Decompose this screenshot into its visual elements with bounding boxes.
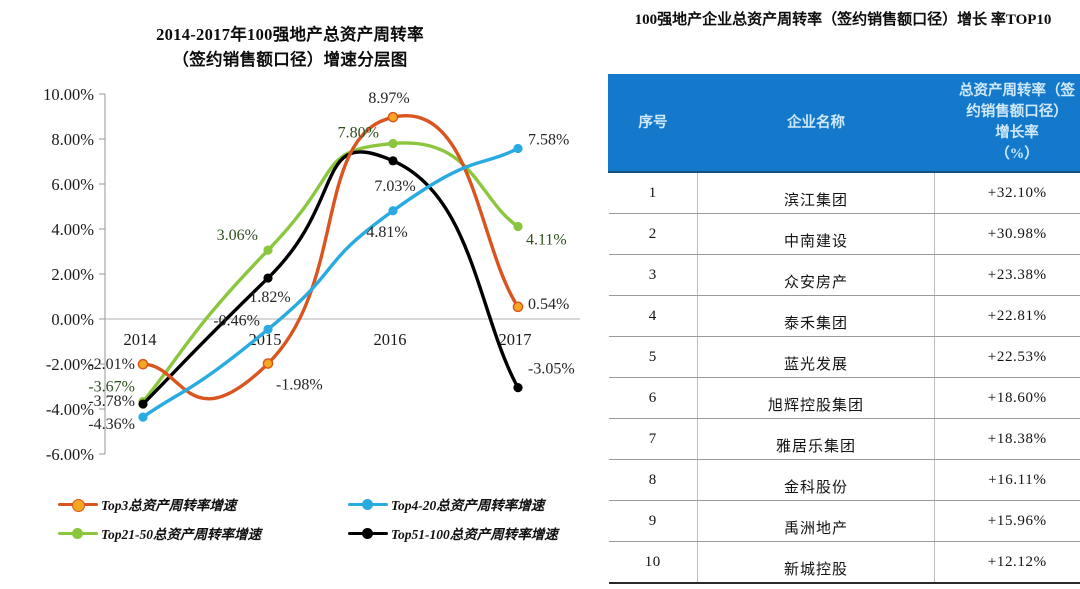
table-title-line-2: 率TOP10 — [991, 12, 1052, 28]
cell-growth-rate: +22.81% — [935, 296, 1080, 337]
cell-company: 滨江集团 — [698, 172, 935, 214]
legend-item-top3[interactable]: Top3总资产周转率增速 — [58, 494, 348, 514]
chart-title-line-1: 2014-2017年100强地产总资产周转率 — [30, 22, 550, 47]
growth-rate-value: +15.96% — [988, 513, 1047, 529]
cell-rank: 9 — [609, 501, 698, 542]
legend-marker-top21-50 — [58, 526, 98, 540]
growth-rate-value: +12.12% — [988, 554, 1047, 570]
cell-rank: 2 — [609, 214, 698, 255]
data-point — [138, 413, 147, 422]
table-title: 100强地产企业总资产周转率（签约销售额口径）增长 率TOP10 — [612, 8, 1074, 33]
cell-company: 中南建设 — [698, 214, 935, 255]
table-header-row: 序号 企业名称 总资产周转率（签 约销售额口径） 增长率 （%） — [609, 75, 1080, 173]
data-series-group — [138, 113, 522, 422]
data-point — [513, 222, 522, 231]
cell-rank: 10 — [609, 542, 698, 584]
table-row[interactable]: 9禹洲地产+15.96% — [609, 501, 1080, 542]
plot-area: 10.00%8.00%6.00%4.00%2.00%0.00%-2.00%-4.… — [0, 72, 600, 482]
column-header-growth-line-3: 增长率 — [939, 123, 1080, 144]
y-tick-label: 8.00% — [51, 130, 94, 149]
cell-company: 新城控股 — [698, 542, 935, 584]
data-label: 8.97% — [368, 90, 409, 107]
cell-company: 泰禾集团 — [698, 296, 935, 337]
company-name: 滨江集团 — [784, 189, 848, 210]
rank-value: 1 — [649, 185, 657, 201]
cell-company: 禹洲地产 — [698, 501, 935, 542]
rank-value: 5 — [649, 349, 657, 365]
y-tick-label: 10.00% — [43, 85, 94, 104]
column-header-growth-rate: 总资产周转率（签 约销售额口径） 增长率 （%） — [935, 75, 1080, 173]
cell-growth-rate: +16.11% — [935, 460, 1080, 501]
chart-panel: 2014-2017年100强地产总资产周转率 （签约销售额口径）增速分层图 10… — [0, 0, 600, 589]
company-name: 旭辉控股集团 — [768, 394, 864, 415]
cell-rank: 8 — [609, 460, 698, 501]
data-label: -1.98% — [276, 377, 323, 394]
data-point — [138, 399, 147, 408]
table-row[interactable]: 10新城控股+12.12% — [609, 542, 1080, 584]
growth-rate-value: +23.38% — [988, 267, 1047, 283]
y-tick-label: -2.00% — [46, 355, 94, 374]
cell-rank: 3 — [609, 255, 698, 296]
growth-rate-value: +22.81% — [988, 308, 1047, 324]
cell-growth-rate: +22.53% — [935, 337, 1080, 378]
cell-growth-rate: +32.10% — [935, 172, 1080, 214]
table-row[interactable]: 2中南建设+30.98% — [609, 214, 1080, 255]
cell-company: 金科股份 — [698, 460, 935, 501]
data-label: 1.82% — [249, 289, 290, 306]
ranking-table: 序号 企业名称 总资产周转率（签 约销售额口径） 增长率 （%） 1滨江集团+3… — [608, 74, 1080, 584]
growth-rate-value: +16.11% — [988, 472, 1046, 488]
company-name: 雅居乐集团 — [776, 435, 856, 456]
legend-label-top51-100: Top51-100总资产周转率增速 — [391, 523, 558, 543]
table-body: 1滨江集团+32.10%2中南建设+30.98%3众安房产+23.38%4泰禾集… — [609, 172, 1080, 583]
line-chart-svg: 10.00%8.00%6.00%4.00%2.00%0.00%-2.00%-4.… — [0, 72, 600, 482]
data-point — [388, 156, 397, 165]
legend-item-top4-20[interactable]: Top4-20总资产周转率增速 — [348, 494, 558, 514]
company-name: 金科股份 — [784, 476, 848, 497]
table-row[interactable]: 6旭辉控股集团+18.60% — [609, 378, 1080, 419]
data-point — [263, 325, 272, 334]
data-label: 7.58% — [528, 131, 569, 148]
y-tick-label: 4.00% — [51, 220, 94, 239]
legend-label-top4-20: Top4-20总资产周转率增速 — [391, 494, 544, 514]
data-point-labels: -2.01%-1.98%8.97%0.54%-4.36%-0.46%4.81%7… — [88, 90, 574, 433]
growth-rate-value: +18.38% — [988, 431, 1047, 447]
data-label: -3.05% — [528, 361, 575, 378]
data-point — [138, 360, 147, 369]
cell-company: 旭辉控股集团 — [698, 378, 935, 419]
column-header-company-text: 企业名称 — [787, 115, 845, 131]
growth-rate-value: +30.98% — [988, 226, 1047, 242]
data-label: -2.01% — [88, 356, 135, 373]
company-name: 泰禾集团 — [784, 312, 848, 333]
table-row[interactable]: 5蓝光发展+22.53% — [609, 337, 1080, 378]
column-header-rank-text: 序号 — [639, 115, 668, 131]
data-label: -4.36% — [88, 416, 135, 433]
company-name: 蓝光发展 — [784, 353, 848, 374]
cell-growth-rate: +15.96% — [935, 501, 1080, 542]
legend-marker-top3 — [58, 497, 98, 511]
data-point — [513, 144, 522, 153]
chart-legend: Top3总资产周转率增速 Top4-20总资产周转率增速 Top21-50总资产… — [58, 494, 558, 543]
cell-rank: 6 — [609, 378, 698, 419]
data-point — [388, 139, 397, 148]
column-header-rank: 序号 — [609, 75, 698, 173]
cell-growth-rate: +18.38% — [935, 419, 1080, 460]
data-point — [513, 383, 522, 392]
y-tick-label: -6.00% — [46, 445, 94, 464]
cell-rank: 4 — [609, 296, 698, 337]
series-1 — [138, 144, 522, 422]
data-point — [513, 302, 522, 311]
company-name: 新城控股 — [784, 558, 848, 579]
chart-title: 2014-2017年100强地产总资产周转率 （签约销售额口径）增速分层图 — [30, 22, 550, 72]
y-tick-label: 6.00% — [51, 175, 94, 194]
data-label: -3.78% — [88, 393, 135, 410]
table-row[interactable]: 8金科股份+16.11% — [609, 460, 1080, 501]
table-row[interactable]: 7雅居乐集团+18.38% — [609, 419, 1080, 460]
legend-label-top3: Top3总资产周转率增速 — [101, 494, 236, 514]
legend-marker-top4-20 — [348, 497, 388, 511]
cell-company: 众安房产 — [698, 255, 935, 296]
rank-value: 3 — [649, 267, 657, 283]
cell-growth-rate: +12.12% — [935, 542, 1080, 584]
data-label: 7.03% — [374, 178, 415, 195]
legend-item-top21-50[interactable]: Top21-50总资产周转率增速 — [58, 523, 348, 543]
data-label: 0.54% — [528, 296, 569, 313]
company-name: 禹洲地产 — [784, 517, 848, 538]
data-point — [263, 273, 272, 282]
legend-label-top21-50: Top21-50总资产周转率增速 — [101, 523, 261, 543]
rank-value: 7 — [649, 431, 657, 447]
data-label: 4.81% — [366, 224, 407, 241]
growth-rate-value: +32.10% — [988, 185, 1047, 201]
data-point — [263, 359, 272, 368]
x-tick-label: 2017 — [499, 330, 532, 349]
table-row[interactable]: 1滨江集团+32.10% — [609, 172, 1080, 214]
cell-company: 蓝光发展 — [698, 337, 935, 378]
data-label: -0.46% — [213, 312, 260, 329]
table-row[interactable]: 3众安房产+23.38% — [609, 255, 1080, 296]
data-label: 7.80% — [338, 125, 379, 142]
table-head: 序号 企业名称 总资产周转率（签 约销售额口径） 增长率 （%） — [609, 75, 1080, 173]
x-tick-label: 2016 — [374, 330, 407, 349]
growth-rate-value: +18.60% — [988, 390, 1047, 406]
series-3 — [138, 152, 522, 409]
data-label: 3.06% — [217, 227, 258, 244]
cell-growth-rate: +30.98% — [935, 214, 1080, 255]
rank-value: 8 — [649, 472, 657, 488]
table-panel: 100强地产企业总资产周转率（签约销售额口径）增长 率TOP10 序号 企业名称… — [600, 0, 1080, 589]
y-tick-label: -4.00% — [46, 400, 94, 419]
growth-rate-value: +22.53% — [988, 349, 1047, 365]
table-row[interactable]: 4泰禾集团+22.81% — [609, 296, 1080, 337]
rank-value: 9 — [649, 513, 657, 529]
cell-company: 雅居乐集团 — [698, 419, 935, 460]
cell-rank: 5 — [609, 337, 698, 378]
data-point — [388, 206, 397, 215]
y-tick-label: 0.00% — [51, 310, 94, 329]
legend-item-top51-100[interactable]: Top51-100总资产周转率增速 — [348, 523, 558, 543]
rank-value: 2 — [649, 226, 657, 242]
rank-value: 6 — [649, 390, 657, 406]
x-tick-label: 2014 — [124, 330, 157, 349]
data-point — [388, 113, 397, 122]
data-point — [263, 246, 272, 255]
cell-rank: 7 — [609, 419, 698, 460]
cell-rank: 1 — [609, 172, 698, 214]
series-0 — [138, 113, 522, 399]
legend-marker-top51-100 — [348, 526, 388, 540]
column-header-growth-line-1: 总资产周转率（签 — [939, 81, 1080, 102]
company-name: 众安房产 — [784, 271, 848, 292]
column-header-company: 企业名称 — [698, 75, 935, 173]
table-title-line-1: 100强地产企业总资产周转率（签约销售额口径）增长 — [635, 12, 988, 28]
rank-value: 10 — [645, 554, 661, 570]
rank-value: 4 — [649, 308, 657, 324]
cell-growth-rate: +23.38% — [935, 255, 1080, 296]
column-header-growth-line-2: 约销售额口径） — [939, 102, 1080, 123]
y-tick-label: 2.00% — [51, 265, 94, 284]
cell-growth-rate: +18.60% — [935, 378, 1080, 419]
company-name: 中南建设 — [784, 230, 848, 251]
column-header-growth-line-4: （%） — [939, 144, 1080, 165]
data-label: 4.11% — [526, 232, 567, 249]
chart-title-line-2: （签约销售额口径）增速分层图 — [30, 47, 550, 72]
